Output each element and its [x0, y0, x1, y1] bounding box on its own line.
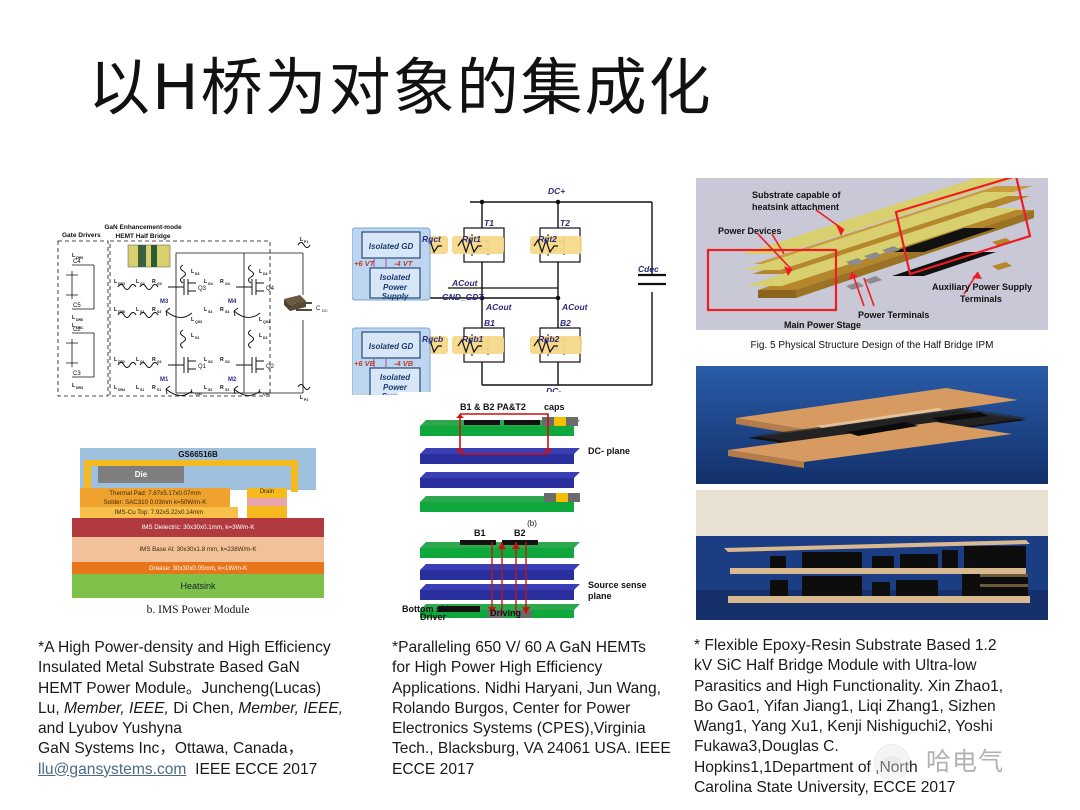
- svg-text:Rgb1: Rgb1: [462, 334, 484, 344]
- email-link[interactable]: llu@gansystems.com: [38, 761, 186, 778]
- svg-text:R: R: [152, 307, 156, 313]
- ims-layer-heatsink: Heatsink: [72, 574, 324, 598]
- svg-text:Isolated: Isolated: [380, 273, 411, 282]
- svg-text:Isolated GD: Isolated GD: [369, 342, 414, 351]
- ims-layer-base-al: IMS Base Al: 30x30x1.8 mm, k=238W/m-K: [72, 537, 324, 562]
- package-icon: [284, 295, 306, 311]
- svg-text:G3: G3: [140, 282, 145, 286]
- ims-layer-grease: Grease: 30x30x0.05mm, k=1W/m-K: [72, 562, 324, 574]
- ims-die-label: Die: [98, 466, 184, 483]
- caption-mid-line-5: Tech., Blacksburg, VA 24061 USA. IEEE: [392, 739, 688, 759]
- ims-figure-caption: b. IMS Power Module: [72, 604, 324, 616]
- svg-text:P1: P1: [304, 240, 308, 244]
- caption-left-line-5: GaN Systems Inc，Ottawa, Canada，: [38, 739, 378, 759]
- svg-text:D1: D1: [195, 336, 200, 340]
- svg-text:Rgcb: Rgcb: [422, 334, 443, 344]
- svg-text:DR3: DR3: [76, 386, 83, 390]
- label-source-sense-1: Source sense: [588, 580, 647, 590]
- svg-text:M2: M2: [228, 377, 237, 383]
- caption-right-line-1: kV SiC Half Bridge Module with Ultra-low: [694, 656, 1056, 676]
- mid-schematic-svg: DC+ DC- T1T2 B1B2 RgctRgt1Rgt2 RgcbRgb1R…: [352, 180, 684, 395]
- svg-text:QS3: QS3: [195, 320, 202, 324]
- figure-gan-half-bridge-schematic: Gate Drivers GaN Enhancement-mode HEMT H…: [48, 215, 340, 405]
- label-driving-caps-1: Driving: [490, 608, 521, 618]
- svg-text:S3: S3: [157, 310, 161, 314]
- svg-text:C: C: [316, 306, 321, 312]
- caption-mid-line-4: Electronics Systems (CPES),Virginia: [392, 719, 688, 739]
- caption-mid: *Paralleling 650 V/ 60 A GaN HEMTs for H…: [392, 638, 688, 780]
- svg-text:G1: G1: [157, 360, 162, 364]
- svg-text:Q2: Q2: [266, 364, 275, 370]
- svg-text:R: R: [220, 307, 224, 313]
- svg-text:G1: G1: [140, 360, 145, 364]
- svg-text:C3: C3: [73, 371, 81, 377]
- svg-text:ACout: ACout: [561, 302, 589, 312]
- caption-right-line-0: * Flexible Epoxy-Resin Substrate Based 1…: [694, 636, 1056, 656]
- svg-text:G4: G4: [208, 282, 213, 286]
- label-substrate-1: Substrate capable of: [752, 190, 842, 200]
- svg-text:DR6: DR6: [76, 318, 83, 322]
- svg-text:DR2: DR2: [118, 360, 125, 364]
- caption-left-line-2: HEMT Power Module。Juncheng(Lucas): [38, 679, 378, 699]
- ims-layer-cu-top: IMS-Cu Top: 7.92x5.22x0.14mm: [80, 507, 238, 518]
- caption-mid-line-2: Applications. Nidhi Haryani, Jun Wang,: [392, 679, 688, 699]
- label-aux-1: Auxiliary Power Supply: [932, 282, 1032, 292]
- caption-left-line-1: Insulated Metal Substrate Based GaN: [38, 658, 378, 678]
- caption-mid-line-3: Rolando Burgos, Center for Power: [392, 699, 688, 719]
- svg-text:D4: D4: [263, 272, 268, 276]
- caption-right-line-5: Fukawa3,Douglas C.: [694, 737, 1056, 757]
- svg-text:ACout: ACout: [485, 302, 513, 312]
- svg-text:P2: P2: [304, 398, 308, 402]
- photo-module-angled: [696, 366, 1048, 484]
- svg-text:-4 VT: -4 VT: [394, 259, 414, 268]
- caption-left-line-6: llu@gansystems.com IEEE ECCE 2017: [38, 760, 378, 780]
- svg-text:Rgt2: Rgt2: [538, 234, 557, 244]
- label-hb-1: GaN Enhancement-mode: [104, 224, 182, 231]
- label-source-sense-2: plane: [588, 591, 612, 601]
- caption-left-line-3: Lu, Member, IEEE, Di Chen, Member, IEEE,: [38, 699, 378, 719]
- svg-text:D3: D3: [195, 272, 200, 276]
- label-gate-drivers: Gate Drivers: [62, 232, 101, 239]
- svg-text:G2: G2: [225, 360, 230, 364]
- svg-text:C5: C5: [73, 303, 81, 309]
- photo1-svg: [696, 366, 1048, 484]
- label-aux-2: Terminals: [960, 294, 1002, 304]
- svg-text:Isolated GD: Isolated GD: [369, 242, 414, 251]
- svg-text:G3: G3: [157, 282, 162, 286]
- svg-text:-4 VB: -4 VB: [394, 359, 414, 368]
- caption-right-line-3: Bo Gao1, Yifan Jiang1, Liqi Zhang1, Sizh…: [694, 697, 1056, 717]
- svg-text:B1: B1: [484, 318, 495, 328]
- label-subfig-b: (b): [527, 519, 537, 528]
- label-bottom-driver-2: Driver: [420, 612, 447, 620]
- pcb-stack-svg: B1 & B2 PA&T2 caps DC- plane (b): [398, 392, 666, 620]
- svg-text:Q4: Q4: [266, 286, 275, 292]
- svg-text:R: R: [220, 279, 224, 285]
- svg-text:Isolated: Isolated: [380, 373, 411, 382]
- page-title: 以H桥为对象的集成化: [88, 52, 713, 123]
- svg-text:R: R: [220, 357, 224, 363]
- figure-ipm-structure: Substrate capable of heatsink attachment…: [696, 178, 1048, 358]
- svg-text:M4: M4: [228, 299, 237, 305]
- figure-pcb-layer-stack: B1 & B2 PA&T2 caps DC- plane (b): [398, 392, 666, 620]
- svg-text:S4: S4: [225, 310, 229, 314]
- label-dc-plus: DC+: [548, 186, 565, 196]
- svg-text:QS2: QS2: [263, 392, 270, 396]
- label-power-terminals: Power Terminals: [858, 310, 929, 320]
- ims-layer-thermal-pad: Thermal Pad: 7.87x5.17x0.07mm: [80, 488, 230, 498]
- svg-text:QS1: QS1: [195, 392, 202, 396]
- ipm-svg: Substrate capable of heatsink attachment…: [696, 178, 1048, 358]
- svg-text:G2: G2: [208, 360, 213, 364]
- svg-text:S2: S2: [225, 388, 229, 392]
- caption-right: * Flexible Epoxy-Resin Substrate Based 1…: [694, 636, 1056, 798]
- caption-mid-line-0: *Paralleling 650 V/ 60 A GaN HEMTs: [392, 638, 688, 658]
- photo-module-side: [696, 490, 1048, 620]
- figure-paralleled-hemt-schematic: DC+ DC- T1T2 B1B2 RgctRgt1Rgt2 RgcbRgb1R…: [352, 180, 684, 395]
- svg-text:S4: S4: [208, 310, 212, 314]
- svg-text:+6 VT: +6 VT: [354, 259, 376, 268]
- svg-text:+6 VB: +6 VB: [354, 359, 376, 368]
- caption-right-line-6: Hopkins1,1Department of ,North: [694, 758, 1056, 778]
- svg-text:DR5: DR5: [76, 256, 83, 260]
- svg-text:D2: D2: [263, 336, 268, 340]
- schematic-svg: Gate Drivers GaN Enhancement-mode HEMT H…: [48, 215, 340, 405]
- label-b1: B1: [474, 528, 486, 538]
- label-caps: caps: [544, 402, 565, 412]
- svg-text:M3: M3: [160, 299, 169, 305]
- svg-text:Q1: Q1: [198, 364, 207, 370]
- svg-text:R: R: [152, 385, 156, 391]
- ipm-figure-caption: Fig. 5 Physical Structure Design of the …: [751, 340, 994, 351]
- slide-canvas: 以H桥为对象的集成化: [0, 0, 1080, 810]
- svg-text:Rgt1: Rgt1: [462, 234, 481, 244]
- svg-text:Q3: Q3: [198, 286, 207, 292]
- svg-text:DR8: DR8: [118, 310, 125, 314]
- svg-text:S2: S2: [208, 388, 212, 392]
- svg-text:S3: S3: [140, 310, 144, 314]
- svg-text:R: R: [152, 357, 156, 363]
- svg-text:M1: M1: [160, 377, 169, 383]
- label-main-power-stage: Main Power Stage: [784, 320, 861, 330]
- svg-text:T1: T1: [484, 218, 494, 228]
- svg-text:T2: T2: [560, 218, 570, 228]
- caption-right-line-4: Wang1, Yang Xu1, Kenji Nishiguchi2, Yosh…: [694, 717, 1056, 737]
- svg-text:Rgb2: Rgb2: [538, 334, 560, 344]
- gan-module-chip-icon: [128, 245, 170, 267]
- svg-text:GND_GDT: GND_GDT: [442, 292, 484, 302]
- label-acout-main: ACout: [451, 278, 479, 288]
- label-substrate-2: heatsink attachment: [752, 202, 839, 212]
- svg-text:S1: S1: [140, 388, 144, 392]
- svg-text:Supply: Supply: [382, 292, 409, 301]
- caption-mid-line-6: ECCE 2017: [392, 760, 688, 780]
- svg-text:DR4: DR4: [118, 388, 125, 392]
- svg-text:DR1: DR1: [76, 326, 83, 330]
- svg-text:B2: B2: [560, 318, 571, 328]
- caption-left-line-4: and Lyubov Yushyna: [38, 719, 378, 739]
- svg-text:DC: DC: [322, 308, 328, 313]
- ims-layer-dielectric: IMS Dielectric: 30x30x0.1mm, k=3W/m-K: [72, 518, 324, 537]
- svg-text:S1: S1: [157, 388, 161, 392]
- svg-text:DR3: DR3: [118, 282, 125, 286]
- svg-text:Power: Power: [383, 283, 408, 292]
- svg-text:G4: G4: [225, 282, 230, 286]
- svg-text:QS4: QS4: [263, 320, 270, 324]
- svg-text:R: R: [152, 279, 156, 285]
- caption-right-line-2: Parasitics and High Functionality. Xin Z…: [694, 677, 1056, 697]
- label-b2: B2: [514, 528, 526, 538]
- label-hb-2: HEMT Half Bridge: [116, 233, 171, 240]
- label-b1b2-top: B1 & B2 PA&T2: [460, 402, 526, 412]
- ims-part-number: GS66516B: [80, 450, 316, 459]
- label-dc-minus-plane: DC- plane: [588, 446, 630, 456]
- svg-text:Power: Power: [383, 383, 408, 392]
- label-power-devices: Power Devices: [718, 226, 782, 236]
- svg-text:Rgct: Rgct: [422, 234, 442, 244]
- svg-text:R: R: [220, 385, 224, 391]
- conference-label: IEEE ECCE 2017: [195, 761, 317, 778]
- caption-left-line-0: *A High Power-density and High Efficienc…: [38, 638, 378, 658]
- figure-ims-power-module: GS66516B Die Drain Thermal Pad: 7.87x5.1…: [72, 448, 324, 608]
- ims-drain-label: Drain: [247, 487, 287, 497]
- label-cdec: Cdec: [638, 264, 659, 274]
- photo2-svg: [696, 490, 1048, 620]
- caption-left: *A High Power-density and High Efficienc…: [38, 638, 378, 780]
- caption-right-line-7: Carolina State University, ECCE 2017: [694, 778, 1056, 798]
- caption-mid-line-1: for High Power High Efficiency: [392, 658, 688, 678]
- ims-layer-solder: Solder: SAC310 0.03mm k=50W/m-K: [80, 498, 230, 507]
